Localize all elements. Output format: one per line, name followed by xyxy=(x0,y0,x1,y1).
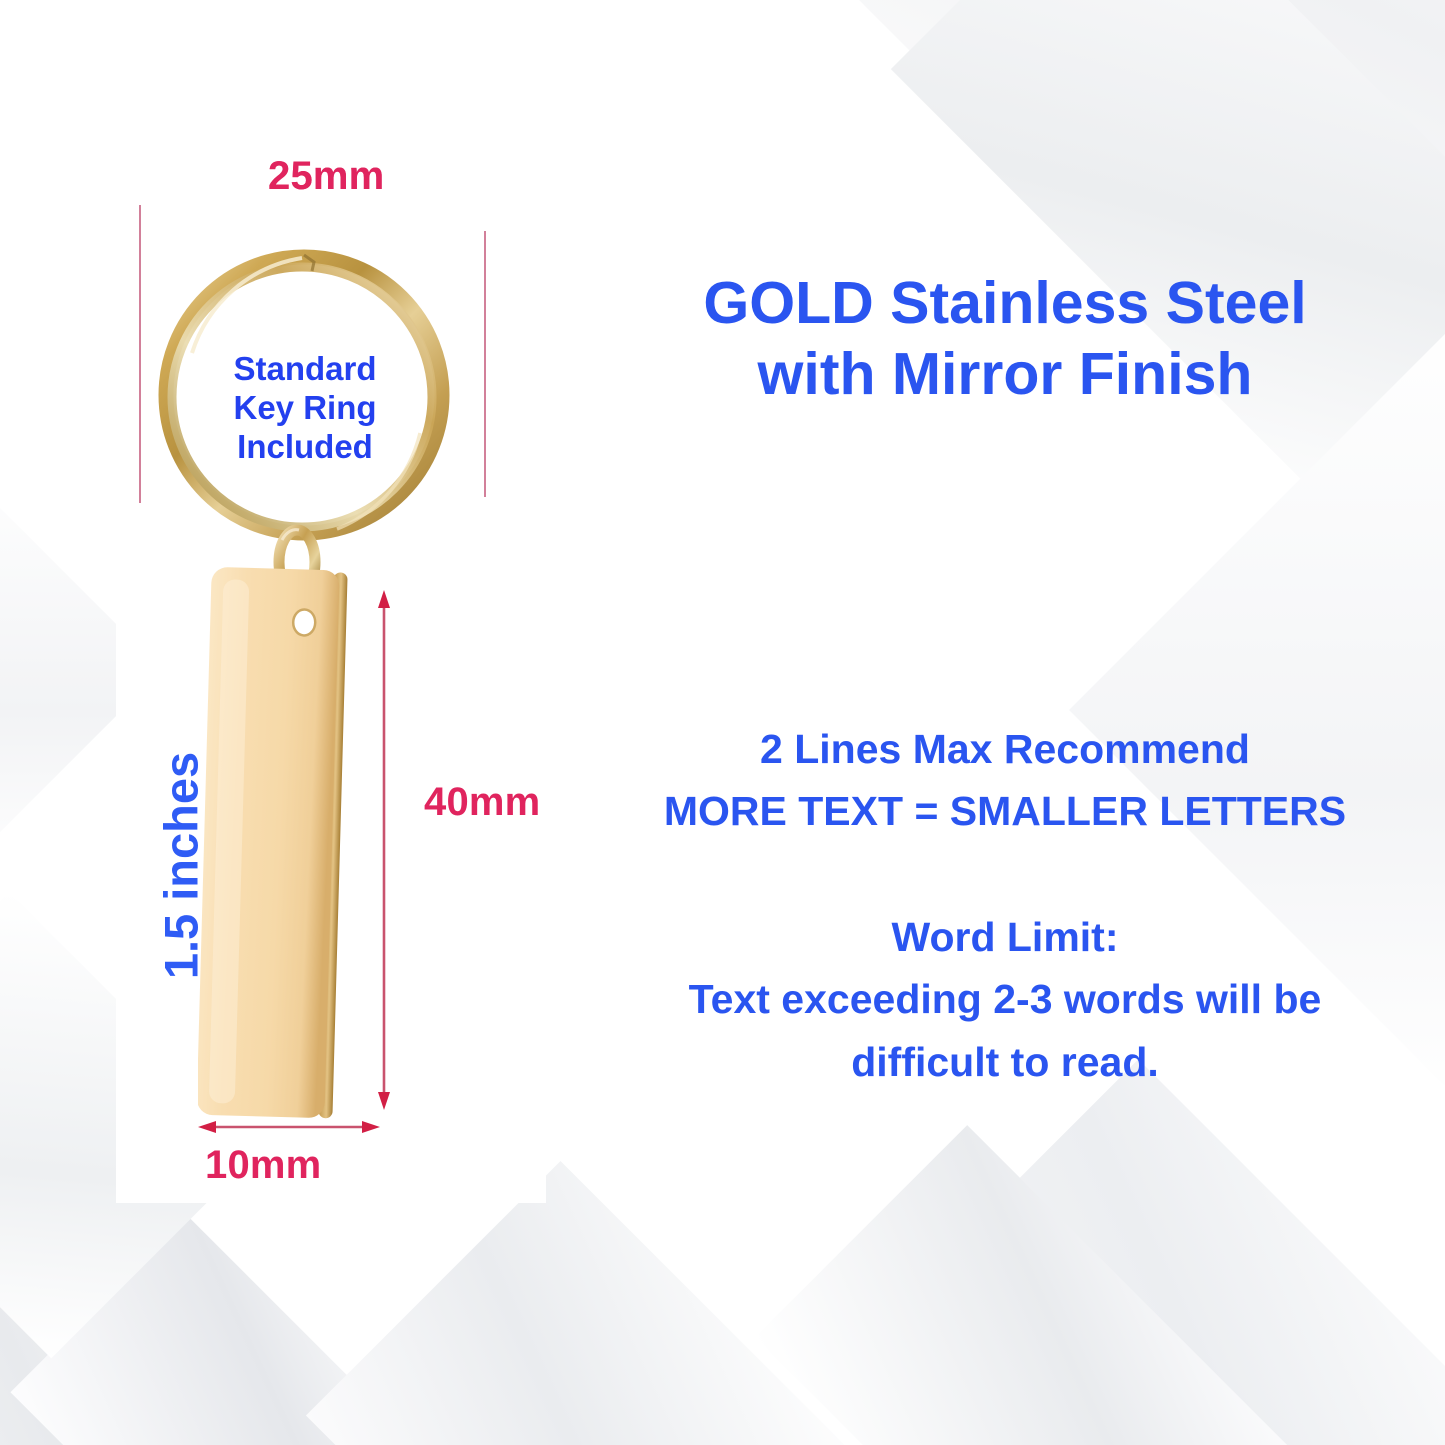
dimension-line-ring-right xyxy=(484,231,486,497)
key-ring-included-caption: Standard Key Ring Included xyxy=(205,350,405,467)
word-limit-block: Word Limit: Text exceeding 2-3 words wil… xyxy=(595,906,1415,1093)
dimension-label-25mm: 25mm xyxy=(268,154,384,199)
word-limit-line-2: Text exceeding 2-3 words will be xyxy=(595,968,1415,1030)
text-guidance-line-1: 2 Lines Max Recommend xyxy=(595,718,1415,780)
gold-bar-tag xyxy=(198,565,373,1125)
info-column: GOLD Stainless Steel with Mirror Finish … xyxy=(595,0,1415,1445)
product-infographic: 25mm 40mm 10mm 1.5 inches Standard Key R… xyxy=(0,0,1445,1445)
headline-line-2: with Mirror Finish xyxy=(595,339,1415,410)
dimension-arrow-40mm xyxy=(376,588,392,1112)
headline-line-1: GOLD Stainless Steel xyxy=(595,268,1415,339)
ring-caption-line-1: Standard xyxy=(205,350,405,389)
word-limit-title: Word Limit: xyxy=(595,906,1415,968)
word-limit-line-3: difficult to read. xyxy=(595,1031,1415,1093)
text-guidance-block: 2 Lines Max Recommend MORE TEXT = SMALLE… xyxy=(595,718,1415,843)
dimension-line-ring-left xyxy=(139,205,141,503)
dimension-label-10mm: 10mm xyxy=(205,1143,321,1188)
ring-caption-line-3: Included xyxy=(205,428,405,467)
dimension-label-40mm: 40mm xyxy=(424,780,540,825)
dimension-arrow-10mm xyxy=(196,1118,382,1136)
product-headline: GOLD Stainless Steel with Mirror Finish xyxy=(595,268,1415,410)
dimension-label-1-5-inches: 1.5 inches xyxy=(154,681,209,1051)
ring-caption-line-2: Key Ring xyxy=(205,389,405,428)
text-guidance-line-2: MORE TEXT = SMALLER LETTERS xyxy=(595,780,1415,842)
